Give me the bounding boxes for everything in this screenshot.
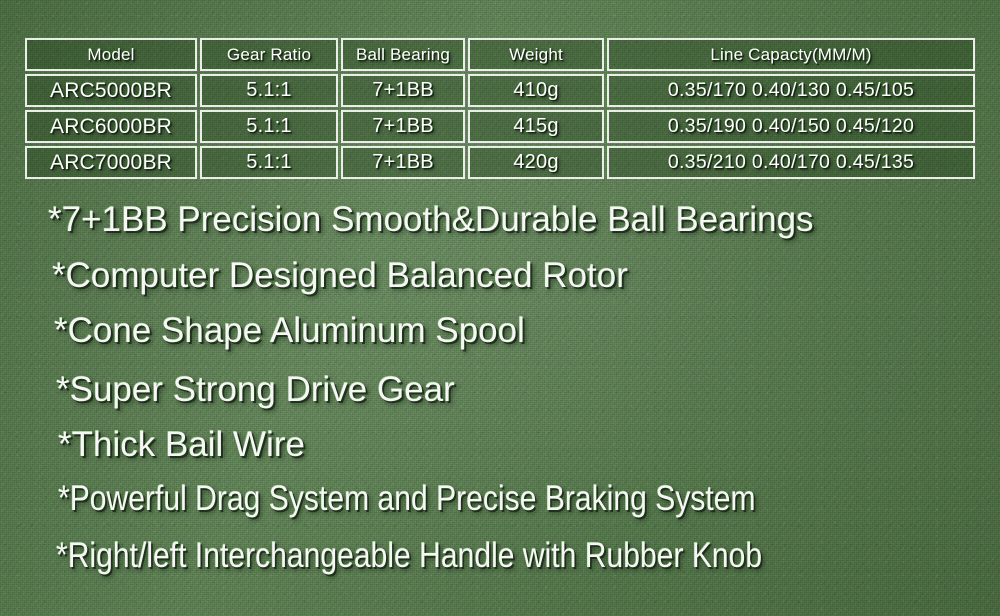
cell-gear-ratio: 5.1:1 (200, 74, 338, 107)
cell-weight: 415g (468, 110, 604, 143)
column-header-gear-ratio: Gear Ratio (200, 38, 338, 71)
column-header-line-capacity: Line Capacty(MM/M) (607, 38, 975, 71)
column-header-weight: Weight (468, 38, 604, 71)
feature-item: *Thick Bail Wire (58, 427, 305, 462)
cell-ball-bearing: 7+1BB (341, 110, 465, 143)
cell-model: ARC7000BR (25, 146, 197, 179)
table-row: ARC6000BR 5.1:1 7+1BB 415g 0.35/190 0.40… (25, 110, 975, 143)
table-row: ARC5000BR 5.1:1 7+1BB 410g 0.35/170 0.40… (25, 74, 975, 107)
cell-line-capacity: 0.35/210 0.40/170 0.45/135 (607, 146, 975, 179)
table-row: ARC7000BR 5.1:1 7+1BB 420g 0.35/210 0.40… (25, 146, 975, 179)
table-header-row: Model Gear Ratio Ball Bearing Weight Lin… (25, 38, 975, 71)
cell-ball-bearing: 7+1BB (341, 146, 465, 179)
feature-item: *Right/left Interchangeable Handle with … (56, 538, 762, 573)
feature-item: *Powerful Drag System and Precise Brakin… (58, 481, 756, 516)
column-header-model: Model (25, 38, 197, 71)
product-spec-poster: Model Gear Ratio Ball Bearing Weight Lin… (0, 0, 1000, 616)
cell-line-capacity: 0.35/190 0.40/150 0.45/120 (607, 110, 975, 143)
cell-model: ARC6000BR (25, 110, 197, 143)
cell-gear-ratio: 5.1:1 (200, 110, 338, 143)
feature-item: *Computer Designed Balanced Rotor (52, 258, 628, 293)
feature-item: *Cone Shape Aluminum Spool (54, 313, 525, 348)
cell-weight: 420g (468, 146, 604, 179)
feature-item: *Super Strong Drive Gear (56, 372, 455, 407)
cell-ball-bearing: 7+1BB (341, 74, 465, 107)
cell-gear-ratio: 5.1:1 (200, 146, 338, 179)
cell-line-capacity: 0.35/170 0.40/130 0.45/105 (607, 74, 975, 107)
feature-item: *7+1BB Precision Smooth&Durable Ball Bea… (48, 202, 814, 237)
cell-model: ARC5000BR (25, 74, 197, 107)
cell-weight: 410g (468, 74, 604, 107)
specification-table: Model Gear Ratio Ball Bearing Weight Lin… (22, 35, 978, 182)
column-header-ball-bearing: Ball Bearing (341, 38, 465, 71)
